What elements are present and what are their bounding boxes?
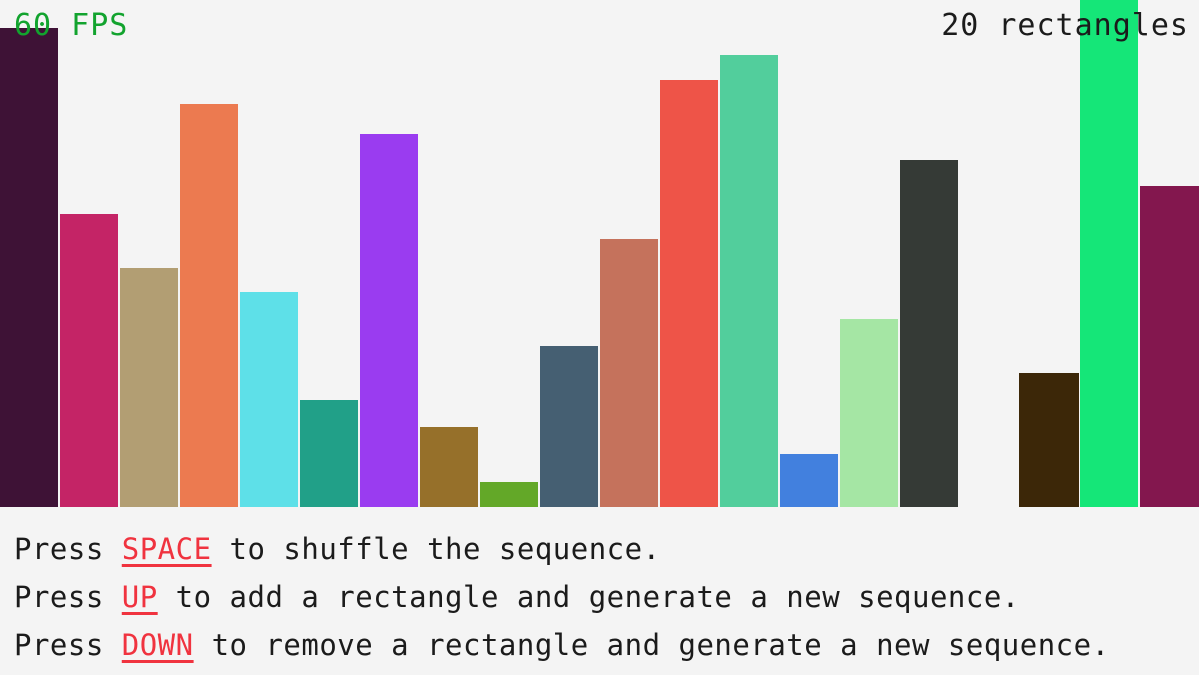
bar-rectangle — [600, 239, 658, 507]
bar-rectangle — [0, 28, 58, 507]
instruction-suffix: to shuffle the sequence. — [212, 532, 661, 566]
bar-rectangle — [660, 80, 718, 507]
instruction-prefix: Press — [14, 532, 122, 566]
bar-rectangle — [300, 400, 358, 507]
instruction-line: Press SPACE to shuffle the sequence. — [14, 525, 1199, 573]
bar-rectangle — [840, 319, 898, 507]
bar-rectangle — [360, 134, 418, 507]
bar-rectangle — [1019, 373, 1079, 507]
instruction-prefix: Press — [14, 580, 122, 614]
bar-rectangle — [720, 55, 778, 507]
instruction-suffix: to remove a rectangle and generate a new… — [194, 628, 1110, 662]
bar-rectangle — [1140, 186, 1199, 507]
fps-counter: 60 FPS — [14, 10, 128, 42]
bar-rectangle — [1080, 0, 1138, 507]
bar-rectangle — [180, 104, 238, 507]
bar-rectangle — [900, 160, 958, 507]
bar-rectangle — [780, 454, 838, 507]
key-badge-down[interactable]: DOWN — [122, 628, 194, 662]
bar-rectangle — [420, 427, 478, 507]
instruction-line: Press UP to add a rectangle and generate… — [14, 573, 1199, 621]
bar-rectangle — [60, 214, 118, 507]
instruction-line: Press DOWN to remove a rectangle and gen… — [14, 621, 1199, 669]
app-root: 60 FPS 20 rectangles Press SPACE to shuf… — [0, 0, 1199, 675]
instruction-prefix: Press — [14, 628, 122, 662]
bar-rectangle — [240, 292, 298, 507]
rectangle-count-label: 20 rectangles — [941, 10, 1189, 42]
instructions-panel: Press SPACE to shuffle the sequence.Pres… — [0, 507, 1199, 675]
key-badge-up[interactable]: UP — [122, 580, 158, 614]
bar-rectangle — [540, 346, 598, 507]
bar-rectangle — [120, 268, 178, 507]
instruction-suffix: to add a rectangle and generate a new se… — [158, 580, 1020, 614]
rectangle-canvas[interactable] — [0, 0, 1199, 507]
bar-rectangle — [480, 482, 538, 507]
key-badge-space[interactable]: SPACE — [122, 532, 212, 566]
